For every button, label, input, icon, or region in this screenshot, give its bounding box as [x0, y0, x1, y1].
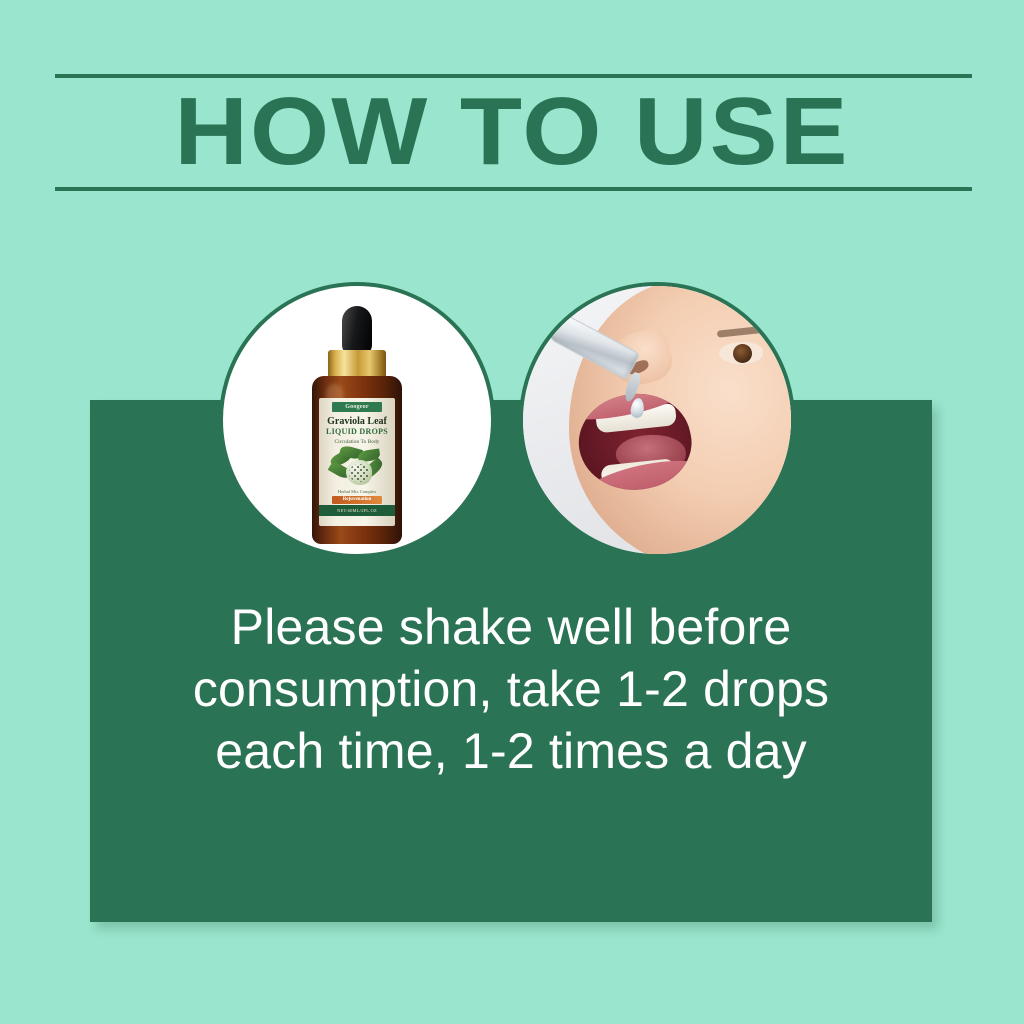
eye — [719, 342, 763, 364]
graviola-fruit-illustration — [328, 447, 386, 489]
bottle-label: Googeor Graviola Leaf LIQUID DROPS Circu… — [319, 398, 395, 526]
label-net-content: NET:60ML/2FL.OZ — [319, 505, 395, 516]
label-benefit: Circulation To Body — [319, 438, 395, 446]
dropper-bottle-illustration: Googeor Graviola Leaf LIQUID DROPS Circu… — [308, 306, 406, 546]
instructions-line-3: each time, 1-2 times a day — [90, 720, 932, 782]
label-product-name: Graviola Leaf — [319, 416, 395, 427]
label-fine-print: Herbal Mix Complex — [319, 489, 395, 495]
dropper-bulb-icon — [342, 306, 372, 356]
usage-scene — [523, 286, 791, 554]
usage-photo-medallion — [519, 282, 795, 558]
instructions-line-1: Please shake well before — [90, 596, 932, 658]
title-divider-bottom — [55, 187, 972, 191]
soursop-fruit-icon — [346, 460, 372, 485]
brand-badge: Googeor — [332, 402, 382, 412]
instructions-text: Please shake well before consumption, ta… — [90, 596, 932, 782]
rejuvenation-badge: Rejuvenation — [332, 496, 382, 504]
instructions-line-2: consumption, take 1-2 drops — [90, 658, 932, 720]
page-title: HOW TO USE — [0, 80, 1024, 184]
label-product-type: LIQUID DROPS — [319, 427, 395, 437]
bottle-amber-glass: Googeor Graviola Leaf LIQUID DROPS Circu… — [312, 376, 402, 544]
iris — [733, 344, 752, 363]
product-photo-medallion: Googeor Graviola Leaf LIQUID DROPS Circu… — [219, 282, 495, 558]
how-to-use-infographic: HOW TO USE Please shake well before cons… — [0, 0, 1024, 1024]
